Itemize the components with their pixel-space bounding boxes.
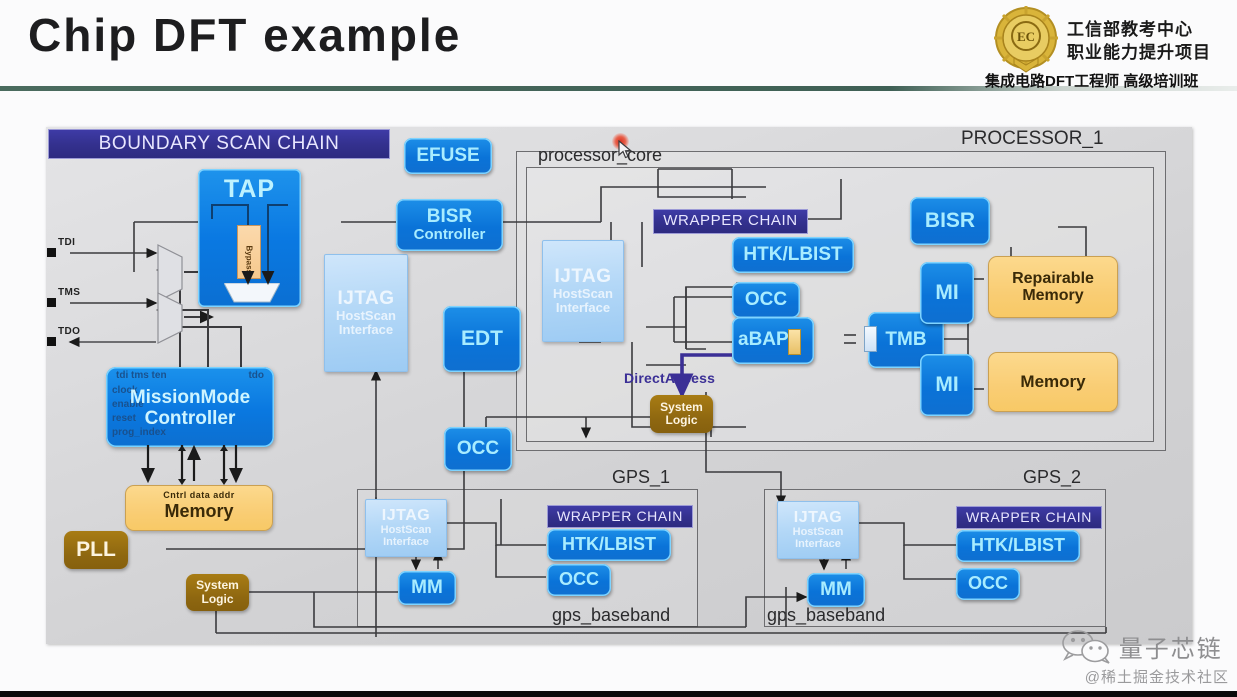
- group-label-gps-baseband-1: gps_baseband: [552, 605, 670, 626]
- mm-gps2-block[interactable]: MM: [807, 573, 865, 607]
- ijtag-core-line1: IJTAG: [554, 267, 611, 288]
- occ-gps1-label: OCC: [559, 570, 599, 589]
- brand-block: EC 工信部教考中心 职业能力提升项目 集成电路DFT工程师 高级培训班: [989, 4, 1227, 100]
- efuse-block[interactable]: EFUSE: [404, 138, 492, 174]
- system-logic-left-block[interactable]: System Logic: [186, 574, 249, 611]
- occ-gps1-block[interactable]: OCC: [547, 564, 611, 596]
- pin-label-tdo: TDO: [58, 326, 80, 337]
- memory-left-pins: Cntrl data addr: [163, 491, 235, 501]
- edt-block[interactable]: EDT: [443, 306, 521, 372]
- htk-lbist-core-block[interactable]: HTK/LBIST: [732, 237, 854, 273]
- tap-block[interactable]: TAP Bypass: [198, 169, 301, 307]
- bisr-core-label: BISR: [925, 210, 975, 233]
- occ-left-label: OCC: [457, 439, 499, 460]
- htk-lbist-gps1-block[interactable]: HTK/LBIST: [547, 529, 671, 561]
- abap-port-icon: [788, 329, 801, 355]
- repairable-memory-line1: Repairable: [1012, 270, 1094, 287]
- gear-seal-logo-icon: EC: [989, 6, 1063, 76]
- group-label-gps-2: GPS_2: [1023, 467, 1081, 488]
- pll-block[interactable]: PLL: [64, 531, 128, 569]
- pin-label-tdi: TDI: [58, 237, 75, 248]
- banner-wrapper-chain-gps2: WRAPPER CHAIN: [956, 506, 1102, 529]
- missionmode-controller-label: MissionMode Controller: [106, 387, 274, 430]
- system-logic-left-line2: Logic: [202, 593, 234, 606]
- banner-wrapper-chain-core: WRAPPER CHAIN: [653, 209, 808, 234]
- ijtag-gps1-line3: Interface: [383, 537, 429, 549]
- banner-boundary-scan-chain: BOUNDARY SCAN CHAIN: [48, 129, 390, 159]
- mouse-cursor-icon: [618, 140, 634, 160]
- direct-access-label: DirectAccess: [624, 370, 715, 386]
- banner-wrapper-chain-gps2-label: WRAPPER CHAIN: [966, 510, 1092, 525]
- occ-core-block[interactable]: OCC: [732, 282, 800, 318]
- edt-label: EDT: [461, 328, 503, 351]
- mi-2-label: MI: [935, 374, 958, 397]
- ijtag-left-line3: Interface: [339, 323, 393, 337]
- group-label-gps-baseband-2: gps_baseband: [767, 605, 885, 626]
- memory-core-block[interactable]: Memory: [988, 352, 1118, 412]
- occ-left-block[interactable]: OCC: [444, 427, 512, 471]
- banner-wrapper-chain-gps1-label: WRAPPER CHAIN: [557, 509, 683, 524]
- svg-text:EC: EC: [1017, 29, 1035, 44]
- memory-left-block[interactable]: Cntrl data addr Memory: [125, 485, 273, 531]
- bisr-controller-line2: Controller: [414, 227, 486, 243]
- htk-lbist-core-label: HTK/LBIST: [743, 245, 842, 266]
- watermark-handle: @稀土掘金技术社区: [1085, 666, 1229, 687]
- ijtag-gps2-line2: HostScan: [793, 527, 844, 539]
- bisr-controller-line1: BISR: [427, 207, 472, 228]
- ijtag-gps1-line2: HostScan: [381, 525, 432, 537]
- pll-label: PLL: [76, 538, 116, 562]
- mm-memory-wires: [136, 445, 266, 487]
- page-title: Chip DFT example: [28, 8, 461, 62]
- mm-gps1-block[interactable]: MM: [398, 571, 456, 605]
- mm-gps1-label: MM: [411, 578, 443, 599]
- occ-gps2-block[interactable]: OCC: [956, 568, 1020, 600]
- pin-tms: [47, 298, 56, 307]
- brand-line-3: 集成电路DFT工程师 高级培训班: [985, 70, 1198, 91]
- ijtag-gps2-line1: IJTAG: [794, 509, 842, 526]
- memory-left-label: Memory: [164, 502, 233, 521]
- group-label-processor-core: processor_core: [538, 145, 662, 166]
- tap-internal-wires: [198, 169, 301, 307]
- wechat-icon: [1061, 630, 1113, 664]
- bisr-core-block[interactable]: BISR: [910, 197, 990, 245]
- tmb-port-icon: [864, 326, 877, 352]
- mi-1-block[interactable]: MI: [920, 262, 974, 324]
- system-logic-left-line1: System: [196, 579, 239, 592]
- mm-label-line2: Controller: [106, 408, 274, 429]
- slide: Chip DFT example EC 工信部教考中心 职业能力提升项目: [0, 0, 1237, 697]
- watermark-name: 量子芯链: [1119, 629, 1223, 664]
- ijtag-core-line3: Interface: [556, 301, 610, 315]
- repairable-memory-line2: Memory: [1022, 287, 1083, 304]
- repairable-memory-block[interactable]: Repairable Memory: [988, 256, 1118, 318]
- occ-gps2-label: OCC: [968, 574, 1008, 593]
- ijtag-gps1-line1: IJTAG: [382, 507, 430, 524]
- efuse-label: EFUSE: [416, 146, 479, 167]
- group-label-processor-1: PROCESSOR_1: [961, 128, 1104, 150]
- ijtag-hostscan-interface-gps1[interactable]: IJTAG HostScan Interface: [365, 499, 447, 557]
- ijtag-core-line2: HostScan: [553, 287, 613, 301]
- occ-core-label: OCC: [745, 290, 787, 311]
- mm-gps2-label: MM: [820, 580, 852, 601]
- ijtag-left-line2: HostScan: [336, 309, 396, 323]
- mm-label-line1: MissionMode: [106, 387, 274, 408]
- group-label-gps-1: GPS_1: [612, 467, 670, 488]
- pin-tdo: [47, 337, 56, 346]
- banner-wrapper-chain-gps1: WRAPPER CHAIN: [547, 505, 693, 528]
- system-logic-core-line1: System: [660, 401, 703, 414]
- abap-block[interactable]: aBAP: [732, 317, 814, 364]
- system-logic-core-line2: Logic: [666, 414, 698, 427]
- ijtag-hostscan-interface-core[interactable]: IJTAG HostScan Interface: [542, 240, 624, 342]
- missionmode-controller-block[interactable]: tdi tms ten tdo clock enable reset prog_…: [106, 367, 274, 447]
- ijtag-hostscan-interface-gps2[interactable]: IJTAG HostScan Interface: [777, 501, 859, 559]
- pin-tdi: [47, 248, 56, 257]
- htk-lbist-gps2-block[interactable]: HTK/LBIST: [956, 530, 1080, 562]
- watermark: 量子芯链 @稀土掘金技术社区: [1061, 629, 1229, 687]
- memory-core-label: Memory: [1020, 373, 1085, 391]
- banner-wrapper-chain-core-label: WRAPPER CHAIN: [663, 213, 797, 229]
- banner-boundary-scan-chain-label: BOUNDARY SCAN CHAIN: [99, 134, 340, 155]
- htk-lbist-gps1-label: HTK/LBIST: [562, 535, 656, 554]
- mi-2-block[interactable]: MI: [920, 354, 974, 416]
- ijtag-hostscan-interface-left[interactable]: IJTAG HostScan Interface: [324, 254, 408, 372]
- system-logic-core-block[interactable]: System Logic: [650, 395, 713, 433]
- tmb-label: TMB: [885, 330, 926, 351]
- ijtag-gps2-line3: Interface: [795, 539, 841, 551]
- mi-1-label: MI: [935, 282, 958, 305]
- dft-architecture-diagram: PROCESSOR_1 processor_core GPS_1 gps_bas…: [46, 127, 1192, 644]
- bisr-controller-block[interactable]: BISR Controller: [396, 199, 503, 251]
- mm-pin-tdo: tdo: [248, 370, 264, 381]
- brand-line-1: 工信部教考中心: [1067, 18, 1211, 41]
- pin-label-tms: TMS: [58, 287, 80, 298]
- bottom-bar: [0, 691, 1237, 697]
- ijtag-left-line1: IJTAG: [337, 289, 394, 310]
- brand-line-2: 职业能力提升项目: [1067, 41, 1211, 64]
- abap-label: aBAP: [738, 330, 789, 351]
- htk-lbist-gps2-label: HTK/LBIST: [971, 536, 1065, 555]
- mm-pins-top: tdi tms ten: [116, 370, 167, 381]
